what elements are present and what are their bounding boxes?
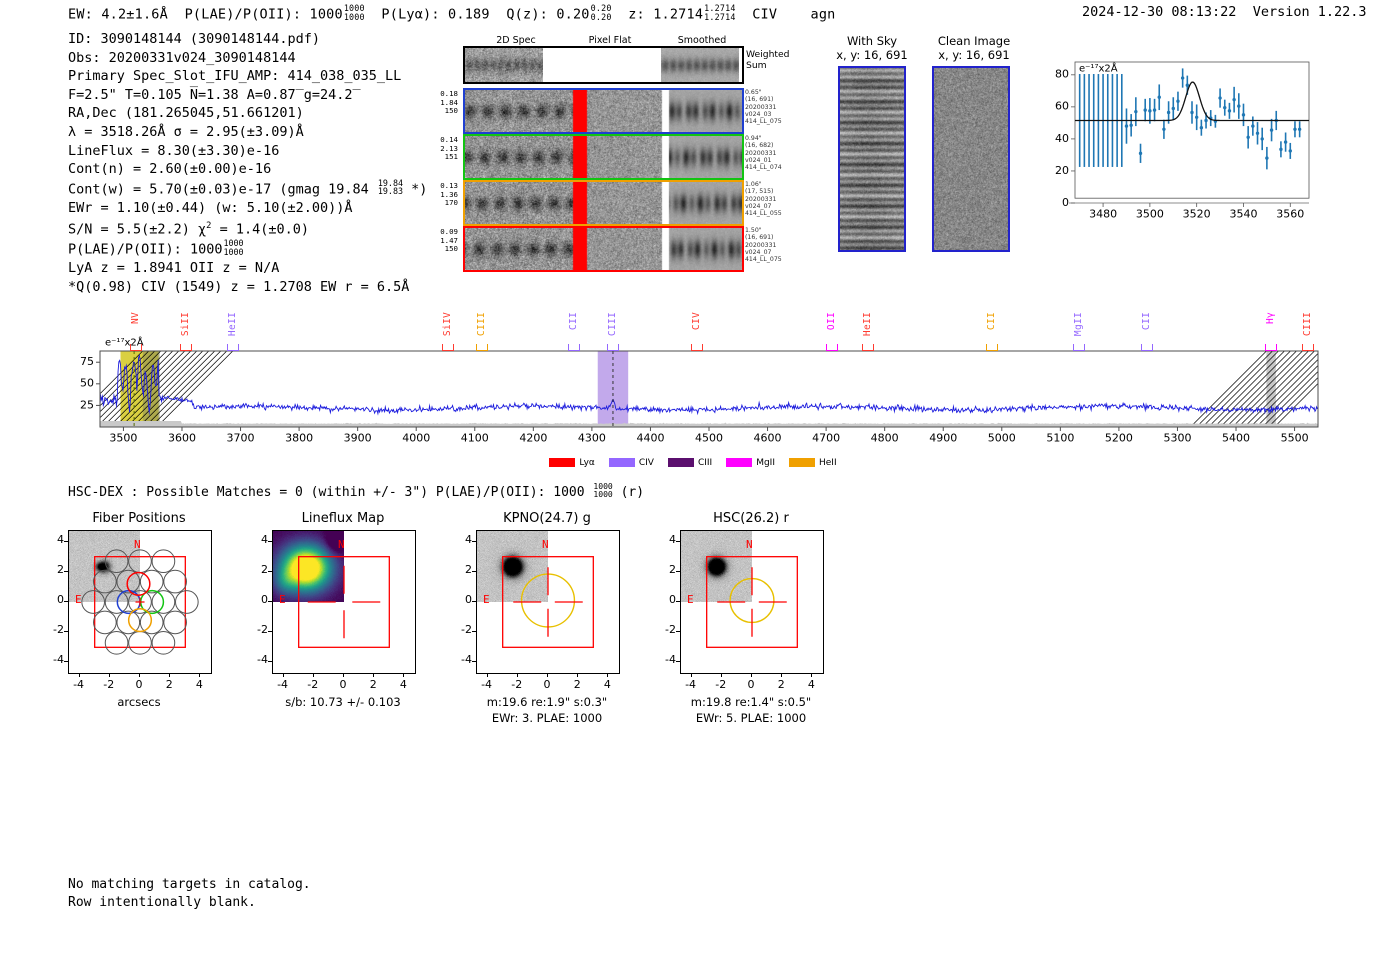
legend-label-mgii: MgII [756, 458, 775, 468]
header-summary-line: EW: 4.2±1.6Å P(LAE)/P(OII): 100010001000… [68, 4, 836, 22]
info-line-2: Primary Spec_Slot_IFU_AMP: 414_038_035_L… [68, 67, 427, 86]
compass-east-1: E [279, 593, 286, 606]
panel-3-xtickmark [811, 673, 812, 677]
panel-3-ytick: -2 [654, 623, 676, 636]
panel-3-ytickmark [676, 601, 680, 602]
info-line-5: λ = 3518.26Å σ = 2.95(±3.09)Å [68, 123, 427, 142]
compass-north-1: N [338, 538, 345, 551]
panel-3-xtick: -4 [677, 678, 705, 691]
panel-3-ytickmark [676, 571, 680, 572]
panel-3-xtickmark [721, 673, 722, 677]
panel-0-xtickmark [169, 673, 170, 677]
info-line-snr: S/N = 5.5(±2.2) χ2 = 1.4(±0.0) [68, 217, 427, 239]
cutout-withsky-title: With Sky [826, 34, 918, 48]
panel-caption2-3: EWr: 5. PLAE: 1000 [646, 711, 856, 725]
info-line-plae: P(LAE)/P(OII): 100010001000 [68, 239, 427, 259]
ew-label: EW: [68, 6, 93, 22]
panel-0-xtickmark [199, 673, 200, 677]
panel-0-xtick: -4 [65, 678, 93, 691]
strip-meta-2: 1.06"(17, 515)20200331v024_07414_LL_055 [745, 181, 805, 217]
panel-title-0: Fiber Positions [40, 511, 238, 526]
info-line-redshifts: LyA z = 1.8941 OII z = N/A [68, 259, 427, 278]
panel-0-ytickmark [64, 601, 68, 602]
panel-3-xtick: 4 [797, 678, 825, 691]
line-bracket-6 [607, 344, 619, 351]
panel-2-ytick: 2 [450, 563, 472, 576]
line-label-siiv-3: SiIV [442, 312, 453, 336]
panel-0-ytick: 2 [42, 563, 64, 576]
panel-2-xtickmark [487, 673, 488, 677]
panel-0-ytickmark [64, 631, 68, 632]
panel-0-xtick: 2 [155, 678, 183, 691]
ew-value: 4.2±1.6Å [101, 6, 168, 22]
panel-image-0 [68, 530, 212, 674]
panel-caption-0: arcsecs [34, 695, 244, 709]
panel-3-xtickmark [691, 673, 692, 677]
line-label-cii-5: CII [568, 312, 579, 330]
line-label-mgii-11: MgII [1073, 312, 1084, 336]
legend-label-heii: HeII [819, 458, 837, 468]
plae-label: P(LAE)/P(OII): [185, 6, 302, 22]
panel-1-ytickmark [268, 631, 272, 632]
panel-3-ytickmark [676, 541, 680, 542]
strip-meta-3: 1.50"(16, 691)20200331v024_07414_LL_075 [745, 227, 805, 263]
cutout-clean-title: Clean Image [924, 34, 1024, 48]
qz-value: 0.20 [556, 6, 589, 22]
panel-caption-3: m:19.8 re:1.4" s:0.5" [646, 695, 856, 709]
panel-2-xtick: -2 [503, 678, 531, 691]
panel-2-xtick: 4 [593, 678, 621, 691]
info-line-ewr: EWr = 1.10(±0.44) (w: 5.10(±2.00))Å [68, 199, 427, 218]
panel-1-xtickmark [313, 673, 314, 677]
panel-3-xtick: -2 [707, 678, 735, 691]
panel-2-xtickmark [607, 673, 608, 677]
panel-0-xtickmark [139, 673, 140, 677]
datestamp: 2024-12-30 08:13:22 [1082, 4, 1236, 20]
hscdex-plae-bounds: 10001000 [593, 483, 612, 500]
line-label-hγ-13: Hγ [1265, 312, 1276, 324]
plae-value: 1000 [310, 6, 343, 22]
panel-1-ytick: 4 [246, 533, 268, 546]
panel-0-xtickmark [109, 673, 110, 677]
legend-label-ciii: CIII [698, 458, 712, 468]
line-bracket-10 [986, 344, 998, 351]
cutout-withsky-caption: With Sky x, y: 16, 691 [826, 34, 918, 62]
legend-swatch-ciii [668, 458, 694, 467]
panel-1-xtickmark [283, 673, 284, 677]
panel-1-ytick: 0 [246, 593, 268, 606]
panel-2-ytick: -4 [450, 653, 472, 666]
strip-stats-3: 0.091.47150 [418, 228, 458, 254]
panel-3-xtick: 2 [767, 678, 795, 691]
panel-0-ytick: 4 [42, 533, 64, 546]
panel-1-ytickmark [268, 601, 272, 602]
panel-caption-1: s/b: 10.73 +/- 0.103 [238, 695, 448, 709]
header-timestamp-version: 2024-12-30 08:13:22 Version 1.22.3 [1082, 4, 1367, 20]
panel-0-ytick: -4 [42, 653, 64, 666]
spec2d-strip-0 [463, 88, 744, 134]
qz-label: Q(z): [506, 6, 548, 22]
panel-title-2: KPNO(24.7) g [448, 511, 646, 526]
panel-0-xtick: 0 [125, 678, 153, 691]
panel-title-smoothed: Smoothed [662, 35, 742, 46]
panel-0-xtick: -2 [95, 678, 123, 691]
panel-0-ytickmark [64, 661, 68, 662]
compass-east-0: E [75, 593, 82, 606]
line-bracket-2 [227, 344, 239, 351]
panel-2-xtick: -4 [473, 678, 501, 691]
panel-0-ytickmark [64, 541, 68, 542]
panel-2-xtick: 0 [533, 678, 561, 691]
panel-1-ytick: -4 [246, 653, 268, 666]
spec2d-strip-2 [463, 180, 744, 226]
cutout-withsky-sub: x, y: 16, 691 [826, 48, 918, 62]
footer-line-2: Row intentionally blank. [68, 894, 311, 912]
strip-meta-0: 0.65"(16, 691)20200331v024_03414_LL_075 [745, 89, 805, 125]
panel-3-ytick: 0 [654, 593, 676, 606]
panel-3-ytickmark [676, 631, 680, 632]
panel-2-ytickmark [472, 661, 476, 662]
panel-1-xtickmark [373, 673, 374, 677]
panel-0-ytickmark [64, 571, 68, 572]
panel-title-1: Lineflux Map [244, 511, 442, 526]
line-bracket-8 [826, 344, 838, 351]
panel-2-xtickmark [577, 673, 578, 677]
line-label-siii-1: SiII [180, 312, 191, 336]
info-line-0: ID: 3090148144 (3090148144.pdf) [68, 30, 427, 49]
legend-swatch-heii [789, 458, 815, 467]
line-label-heii-2: HeII [227, 312, 238, 336]
panel-0-ytick: 0 [42, 593, 64, 606]
legend-swatch-civ [609, 458, 635, 467]
panel-title-pixelflat: Pixel Flat [570, 35, 650, 46]
spec2d-strip-3 [463, 226, 744, 272]
panel-0-xtickmark [79, 673, 80, 677]
panel-2-ytickmark [472, 541, 476, 542]
panel-title-2dspec: 2D Spec [481, 35, 551, 46]
z-bounds: 1.27141.2714 [704, 4, 735, 21]
strip-meta-1: 0.94"(16, 682)20200331v024_01414_LL_074 [745, 135, 805, 171]
z-label: z: [628, 6, 645, 22]
panel-3-ytickmark [676, 661, 680, 662]
gmag-bounds: 19.8419.83 [378, 179, 403, 196]
line-bracket-3 [442, 344, 454, 351]
weighted-sum-strip [463, 46, 744, 84]
panel-3-xtickmark [781, 673, 782, 677]
legend-swatch-lyα [549, 458, 575, 467]
line-label-cii-10: CII [986, 312, 997, 330]
info-line-1: Obs: 20200331v024_3090148144 [68, 49, 427, 68]
panel-caption2-2: EWr: 3. PLAE: 1000 [442, 711, 652, 725]
panel-2-ytickmark [472, 631, 476, 632]
strip-stats-0: 0.181.84150 [418, 90, 458, 116]
spectrum-legend: LyαCIVCIIIMgIIHeII [0, 452, 1400, 471]
panel-title-3: HSC(26.2) r [652, 511, 850, 526]
agn-tag: agn [811, 6, 836, 22]
panel-2-xtickmark [517, 673, 518, 677]
info-line-7: Cont(n) = 2.60(±0.00)e-16 [68, 160, 427, 179]
strip-stats-1: 0.142.13151 [418, 136, 458, 162]
compass-east-3: E [687, 593, 694, 606]
line-bracket-14 [1302, 344, 1314, 351]
target-info-block: ID: 3090148144 (3090148144.pdf) Obs: 202… [68, 30, 427, 297]
version-label: Version 1.22.3 [1253, 4, 1367, 20]
panel-1-xtick: 4 [389, 678, 417, 691]
panel-1-ytickmark [268, 541, 272, 542]
compass-east-2: E [483, 593, 490, 606]
panel-3-ytick: 2 [654, 563, 676, 576]
panel-image-1 [272, 530, 416, 674]
legend-label-civ: CIV [639, 458, 654, 468]
z-value: 1.2714 [653, 6, 703, 22]
info-line-3: F=2.5" T=0.105 N̅=1.38 A=0.87̅ g=24.2̅ [68, 86, 427, 105]
cutout-clean-sub: x, y: 16, 691 [924, 48, 1024, 62]
strip-stats-2: 0.131.36170 [418, 182, 458, 208]
footer-note: No matching targets in catalog. Row inte… [68, 876, 311, 912]
legend-swatch-mgii [726, 458, 752, 467]
info-line-cont-w: Cont(w) = 5.70(±0.03)e-17 (gmag 19.84 19… [68, 179, 427, 199]
compass-north-2: N [542, 538, 549, 551]
panel-2-xtick: 2 [563, 678, 591, 691]
panel-1-ytickmark [268, 661, 272, 662]
line-bracket-4 [476, 344, 488, 351]
line-label-heii-9: HeII [862, 312, 873, 336]
line-label-cii-12: CII [1141, 312, 1152, 330]
compass-north-3: N [746, 538, 753, 551]
panel-2-xtickmark [547, 673, 548, 677]
panel-1-ytick: -2 [246, 623, 268, 636]
full-spectrum-plot: NVSiIIHeIISiIVCIIICIICIIICIVOIIHeIICIIMg… [0, 300, 1400, 470]
panel-1-xtick: -2 [299, 678, 327, 691]
panel-2-ytickmark [472, 571, 476, 572]
line-fit-inset-plot [1035, 52, 1315, 237]
panel-3-xtick: 0 [737, 678, 765, 691]
weighted-sum-label: WeightedSum [746, 50, 790, 71]
plae-bounds: 10001000 [344, 4, 365, 21]
panel-3-ytick: -4 [654, 653, 676, 666]
info-plae-bounds: 10001000 [223, 239, 243, 256]
compass-north-0: N [134, 538, 141, 551]
panel-3-xtickmark [751, 673, 752, 677]
line-bracket-11 [1073, 344, 1085, 351]
panel-2-ytick: 4 [450, 533, 472, 546]
withsky-image [838, 66, 906, 252]
info-line-quality: *Q(0.98) CIV (1549) z = 1.2708 EW r = 6.… [68, 278, 427, 297]
info-line-6: LineFlux = 8.30(±3.30)e-16 [68, 142, 427, 161]
panel-1-ytick: 2 [246, 563, 268, 576]
panel-2-ytick: -2 [450, 623, 472, 636]
line-label-ciii-4: CIII [476, 312, 487, 336]
panel-image-2 [476, 530, 620, 674]
line-label-ciii-14: CIII [1302, 312, 1313, 336]
panel-1-xtick: 0 [329, 678, 357, 691]
info-line-4: RA,Dec (181.265045,51.661201) [68, 104, 427, 123]
panel-1-ytickmark [268, 571, 272, 572]
line-label-civ-7: CIV [691, 312, 702, 330]
line-label-oii-8: OII [826, 312, 837, 330]
footer-line-1: No matching targets in catalog. [68, 876, 311, 894]
line-bracket-7 [691, 344, 703, 351]
line-label-ciii-6: CIII [607, 312, 618, 336]
line-bracket-0 [130, 344, 142, 351]
clean-image [932, 66, 1010, 252]
hscdex-line: HSC-DEX : Possible Matches = 0 (within +… [68, 483, 644, 500]
panel-image-3 [680, 530, 824, 674]
civ-tag: CIV [752, 6, 777, 22]
panel-caption-2: m:19.6 re:1.9" s:0.3" [442, 695, 652, 709]
panel-1-xtickmark [403, 673, 404, 677]
panel-0-ytick: -2 [42, 623, 64, 636]
line-bracket-5 [568, 344, 580, 351]
line-bracket-12 [1141, 344, 1153, 351]
panel-1-xtick: 2 [359, 678, 387, 691]
panel-1-xtickmark [343, 673, 344, 677]
qz-bounds: 0.200.20 [591, 4, 612, 21]
legend-label-lyα: Lyα [579, 458, 594, 468]
panel-3-ytick: 4 [654, 533, 676, 546]
line-bracket-9 [862, 344, 874, 351]
cutout-clean-caption: Clean Image x, y: 16, 691 [924, 34, 1024, 62]
line-bracket-1 [180, 344, 192, 351]
panel-2-ytick: 0 [450, 593, 472, 606]
panel-1-xtick: -4 [269, 678, 297, 691]
line-label-nv-0: NV [130, 312, 141, 324]
panel-2-ytickmark [472, 601, 476, 602]
plya-value: 0.189 [448, 6, 490, 22]
panel-0-xtick: 4 [185, 678, 213, 691]
plya-label: P(Lyα): [381, 6, 439, 22]
spec2d-strip-1 [463, 134, 744, 180]
line-bracket-13 [1265, 344, 1277, 351]
